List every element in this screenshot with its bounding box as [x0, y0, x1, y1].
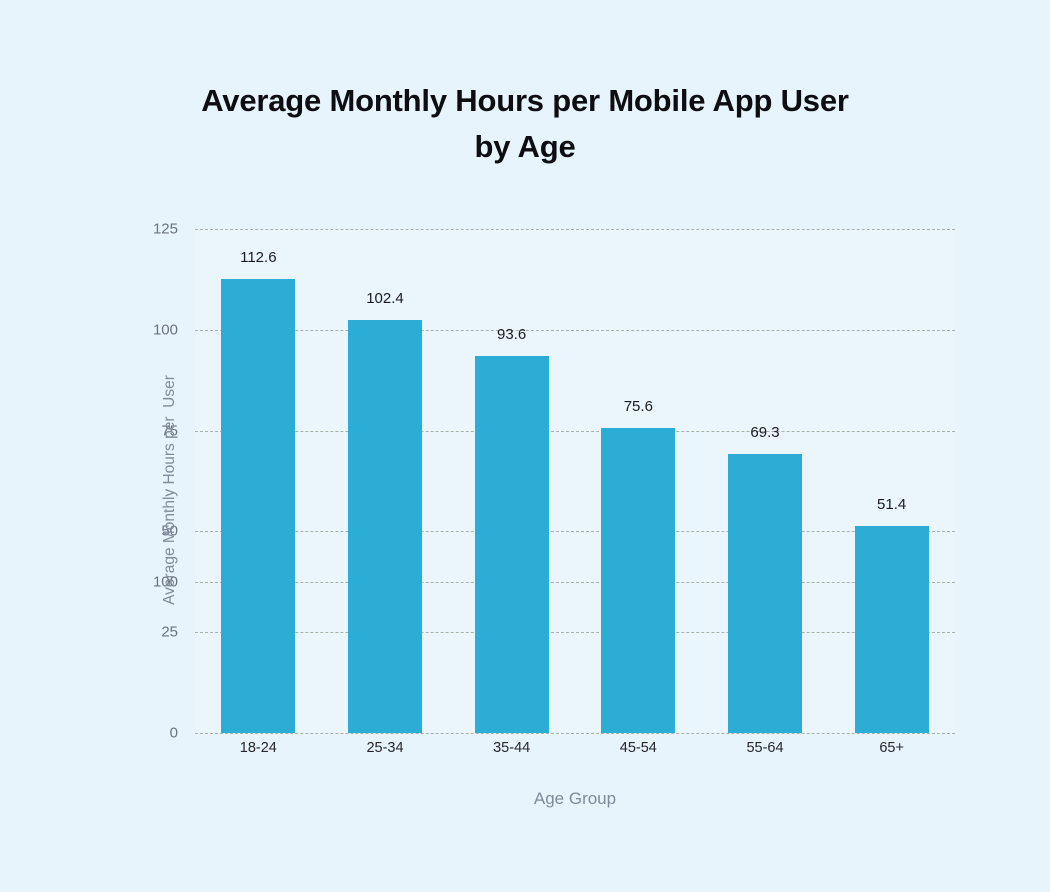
chart-figure: Average Monthly Hours per Mobile App Use…	[0, 0, 1050, 892]
bar-value-label: 69.3	[685, 424, 845, 441]
y-axis-tick-labels: 1251007550100250	[0, 229, 178, 733]
bar-value-label: 102.4	[305, 290, 465, 307]
chart-title: Average Monthly Hours per Mobile App Use…	[120, 78, 930, 170]
gridline	[195, 229, 955, 230]
x-axis-tick-label: 25-34	[366, 740, 403, 756]
y-axis-tick-label: 100	[0, 321, 178, 338]
y-axis-title: Average Monthly Hours per User	[161, 230, 179, 750]
bar[interactable]	[855, 526, 929, 733]
bar-column[interactable]: 112.6	[221, 229, 295, 733]
bar[interactable]	[601, 428, 675, 733]
plot-area: 112.6102.493.675.669.351.4	[195, 229, 955, 733]
bar[interactable]	[475, 356, 549, 733]
gridline	[195, 733, 955, 734]
bar[interactable]	[348, 320, 422, 733]
gridline	[195, 582, 955, 583]
x-axis-tick-label: 45-54	[620, 740, 657, 756]
bar[interactable]	[221, 279, 295, 733]
bar-column[interactable]: 93.6	[475, 229, 549, 733]
bar-column[interactable]: 69.3	[728, 229, 802, 733]
x-axis-tick-label: 65+	[879, 740, 904, 756]
y-axis-tick-label: 0	[0, 725, 178, 742]
bar-value-label: 93.6	[432, 326, 592, 343]
x-axis-tick-label: 18-24	[240, 740, 277, 756]
y-axis-tick-label: 100	[0, 573, 178, 590]
bar[interactable]	[728, 454, 802, 733]
gridline	[195, 632, 955, 633]
bar-value-label: 75.6	[558, 398, 718, 415]
x-axis-title: Age Group	[195, 789, 955, 809]
y-axis-tick-label: 50	[0, 523, 178, 540]
x-axis-tick-label: 35-44	[493, 740, 530, 756]
bar-value-label: 112.6	[178, 249, 338, 266]
gridline	[195, 531, 955, 532]
y-axis-tick-label: 25	[0, 624, 178, 641]
bar-column[interactable]: 102.4	[348, 229, 422, 733]
y-axis-tick-label: 125	[0, 221, 178, 238]
x-axis-tick-labels: 18-2425-3435-4445-5455-6465+	[195, 740, 955, 766]
x-axis-tick-label: 55-64	[746, 740, 783, 756]
bar-column[interactable]: 75.6	[601, 229, 675, 733]
bar-value-label: 51.4	[812, 496, 972, 513]
y-axis-tick-label: 75	[0, 422, 178, 439]
bar-column[interactable]: 51.4	[855, 229, 929, 733]
